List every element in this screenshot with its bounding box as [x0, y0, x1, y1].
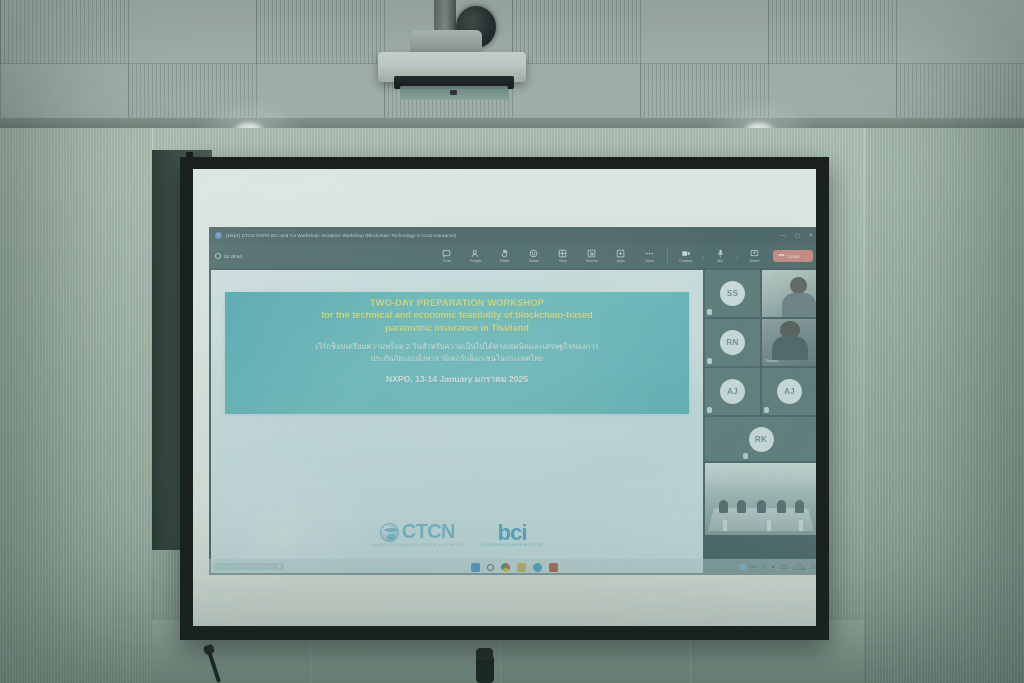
room-attendee [795, 500, 804, 513]
toolbar-button-view[interactable]: View [548, 249, 577, 263]
speaker-icon[interactable] [771, 564, 777, 570]
teams-meeting-window[interactable]: T (Day1) CTCN NXPO BCI and TU Workshop: … [209, 227, 816, 575]
avatar: AJ [777, 379, 802, 404]
camera-icon [681, 249, 690, 258]
participant-rail[interactable]: SS RN Thom [705, 270, 816, 573]
avatar: RN [720, 330, 745, 355]
raise-hand-icon [500, 249, 509, 258]
wall-left [0, 128, 152, 683]
minimize-icon[interactable]: — [781, 233, 786, 239]
language-indicator[interactable]: ENG [750, 565, 758, 569]
chrome-icon[interactable] [501, 563, 510, 572]
bci-tagline: BLOCKCHAIN CLIMATE INSTITUTE [481, 543, 542, 547]
toolbar-button-camera[interactable]: Camera [671, 249, 700, 263]
taskbar-clock[interactable]: 9:26 13/1/2568 [791, 563, 806, 571]
leave-button-label: Leave [788, 254, 800, 259]
ceiling-projector [372, 0, 532, 104]
projector-indicator [450, 90, 457, 95]
toolbar-button-chat[interactable]: Chat [432, 249, 461, 263]
avatar: AJ [720, 379, 745, 404]
water-bottle [767, 520, 771, 531]
taskbar-apps[interactable] [471, 563, 558, 572]
meeting-stage: TWO-DAY PREPARATION WORKSHOP for the tec… [209, 268, 816, 575]
leave-chevron-down-icon[interactable]: ⌄ [804, 254, 807, 259]
projection-screen-surface: T (Day1) CTCN NXPO BCI and TU Workshop: … [193, 169, 816, 626]
projection-screen-frame: T (Day1) CTCN NXPO BCI and TU Workshop: … [180, 157, 829, 640]
react-emoji-icon [529, 249, 538, 258]
toolbar-label: People [470, 259, 482, 263]
clock-date: 13/1/2568 [791, 567, 806, 571]
toolbar-button-rooms[interactable]: Rooms [577, 249, 606, 263]
participant-tile[interactable]: RK [705, 417, 816, 461]
toolbar-label: React [529, 259, 539, 263]
chat-icon [442, 249, 451, 258]
teams-app-icon: T [215, 232, 222, 239]
room-attendee [777, 500, 786, 513]
slide-logos: CTCN CLIMATE TECHNOLOGY CENTRE & NETWORK… [211, 522, 703, 547]
powerpoint-icon[interactable] [549, 563, 558, 572]
toolbar-button-apps[interactable]: Apps [606, 249, 635, 263]
avatar: SS [720, 281, 745, 306]
slide-title-line1: TWO-DAY PREPARATION WORKSHOP [370, 298, 544, 308]
avatar: RK [749, 427, 774, 452]
meeting-title: (Day1) CTCN NXPO BCI and TU Workshop: In… [226, 233, 457, 238]
participant-tile[interactable]: AJ [762, 368, 816, 415]
muted-mic-icon [764, 407, 769, 413]
room-attendee [719, 500, 728, 513]
ctcn-logo: CTCN CLIMATE TECHNOLOGY CENTRE & NETWORK [371, 522, 463, 547]
shared-content-area[interactable]: TWO-DAY PREPARATION WORKSHOP for the tec… [211, 270, 703, 573]
bci-wordmark: bci [498, 522, 527, 543]
view-grid-icon [558, 249, 567, 258]
toolbar-label: Apps [617, 259, 625, 263]
wall-right [864, 128, 1024, 683]
toolbar-label: Camera [679, 259, 692, 263]
slide-decoration [211, 453, 381, 573]
close-icon[interactable]: ✕ [809, 233, 813, 239]
leave-button[interactable]: Leave ⌄ [773, 250, 813, 262]
toolbar-button-share[interactable]: Share [740, 249, 769, 263]
file-explorer-icon[interactable] [517, 563, 526, 572]
slide-title-line2: for the technical and economic feasibili… [321, 309, 593, 321]
toolbar-label: Raise [500, 259, 509, 263]
toolbar-actions[interactable]: Chat People [432, 249, 813, 263]
meeting-timer: 01:28:54 [215, 253, 242, 259]
toolbar-button-raise[interactable]: Raise [490, 249, 519, 263]
conference-room: T (Day1) CTCN NXPO BCI and TU Workshop: … [0, 0, 1024, 683]
water-bottle [799, 520, 803, 531]
windows-taskbar[interactable]: ︿ ENG [209, 559, 816, 575]
projected-image: T (Day1) CTCN NXPO BCI and TU Workshop: … [209, 227, 816, 575]
muted-mic-icon [707, 407, 712, 413]
share-screen-icon [750, 249, 759, 258]
meeting-timer-value: 01:28:54 [224, 254, 242, 259]
start-button[interactable] [471, 563, 480, 572]
participant-tile[interactable]: RN [705, 319, 760, 366]
ceiling-tile-perforation [0, 0, 128, 64]
breakout-rooms-icon [587, 249, 596, 258]
apps-plus-icon [616, 249, 625, 258]
powerpoint-slide: TWO-DAY PREPARATION WORKSHOP for the tec… [211, 270, 703, 573]
chevron-up-icon[interactable]: ︿ [732, 565, 736, 570]
room-ceiling [705, 463, 816, 485]
muted-mic-icon [707, 309, 712, 315]
more-ellipsis-icon[interactable]: ··· [810, 358, 814, 363]
people-icon [471, 249, 480, 258]
teams-title-bar: T (Day1) CTCN NXPO BCI and TU Workshop: … [209, 227, 816, 244]
mic-chevron-down-icon[interactable]: ⌄ [736, 254, 739, 259]
wall-seam [864, 128, 866, 683]
room-attendee [737, 500, 746, 513]
water-bottle [723, 520, 727, 531]
room-system-video-tile[interactable] [705, 463, 816, 535]
slide-title-line3: parametric insurance in Thailand [385, 322, 529, 334]
toolbar-button-people[interactable]: People [461, 249, 490, 263]
toolbar-divider [667, 249, 668, 263]
search-icon[interactable] [487, 564, 494, 571]
toolbar-button-react[interactable]: React [519, 249, 548, 263]
toolbar-label: View [559, 259, 567, 263]
slide-title-banner: TWO-DAY PREPARATION WORKSHOP for the tec… [225, 292, 689, 414]
teams-toolbar[interactable]: 01:28:54 Chat [209, 244, 816, 268]
participant-name: Thomas... [765, 359, 781, 363]
globe-icon [380, 523, 399, 542]
participant-row: SS [705, 270, 816, 317]
window-controls[interactable]: — ▢ ✕ [781, 233, 813, 239]
hangup-icon [778, 252, 785, 260]
participant-row: RN Thomas... ··· [705, 319, 816, 366]
slide-thai-line2: ประกันภัยแบบอิงพารามิเตอร์บล็อกเชนในประเ… [365, 353, 550, 364]
toolbar-label: Rooms [586, 259, 598, 263]
ceiling-tile-perforation [256, 0, 384, 64]
maximize-icon[interactable]: ▢ [795, 233, 800, 239]
participant-row: AJ AJ [705, 368, 816, 415]
system-tray[interactable]: ︿ ENG [732, 563, 816, 571]
slide-thai-line1: เวิร์กช็อปเตรียมความพร้อม 2 วันสำหรับควา… [309, 341, 604, 352]
ceiling-tile-perforation [768, 0, 896, 64]
notification-bell-icon[interactable] [810, 564, 816, 570]
battery-icon[interactable] [781, 564, 787, 570]
participant-tile[interactable]: SS [705, 270, 760, 317]
ctcn-wordmark: CTCN [402, 522, 455, 542]
camera-chevron-down-icon[interactable]: ⌄ [701, 254, 704, 259]
bci-logo: bci BLOCKCHAIN CLIMATE INSTITUTE [481, 522, 542, 547]
toolbar-button-more[interactable]: More [635, 249, 664, 263]
wifi-icon[interactable] [761, 564, 767, 570]
toolbar-label: Share [750, 259, 760, 263]
ctcn-tagline: CLIMATE TECHNOLOGY CENTRE & NETWORK [371, 543, 463, 547]
participant-video-tile[interactable] [762, 270, 816, 317]
muted-mic-icon [743, 453, 748, 459]
toolbar-label: Mic [717, 259, 723, 263]
room-attendee [757, 500, 766, 513]
more-ellipsis-icon [645, 249, 654, 258]
onedrive-icon[interactable] [740, 564, 746, 570]
clock-icon [215, 253, 221, 259]
muted-mic-icon [707, 358, 712, 364]
toolbar-button-mic[interactable]: Mic [706, 249, 735, 263]
participant-tile[interactable]: AJ [705, 368, 760, 415]
toolbar-label: Chat [443, 259, 451, 263]
slide-date-line: NXPO, 13-14 January มกราคม 2025 [386, 372, 528, 386]
participant-row: RK [705, 417, 816, 461]
edge-icon[interactable] [533, 563, 542, 572]
participant-video-tile[interactable]: Thomas... ··· [762, 319, 816, 366]
microphone-icon [716, 249, 725, 258]
toolbar-label: More [646, 259, 654, 263]
microphone-head [476, 648, 493, 660]
